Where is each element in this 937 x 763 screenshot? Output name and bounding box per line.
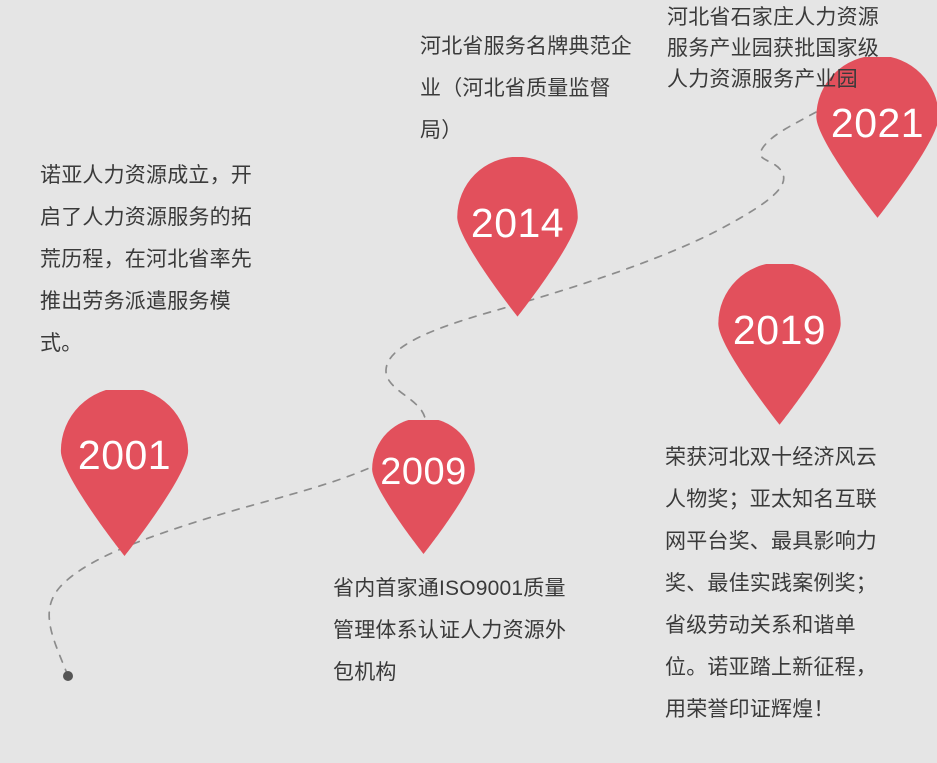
timeline-description-2001: 诺亚人力资源成立，开启了人力资源服务的拓荒历程，在河北省率先推出劳务派遣服务模式… xyxy=(40,155,268,365)
timeline-marker-2014[interactable]: 2014 xyxy=(452,157,583,319)
timeline-year-2009: 2009 xyxy=(364,451,483,494)
timeline-description-2009: 省内首家通ISO9001质量管理体系认证人力资源外包机构 xyxy=(333,568,569,694)
timeline-infographic: 2001 2009 2014 2019 2021 诺亚人力资源成立，开启了人力资… xyxy=(0,0,937,763)
timeline-year-2019: 2019 xyxy=(713,307,846,354)
timeline-year-2014: 2014 xyxy=(452,200,583,247)
timeline-year-2001: 2001 xyxy=(55,432,194,479)
timeline-marker-2019[interactable]: 2019 xyxy=(713,264,846,426)
timeline-description-2014: 河北省服务名牌典范企业（河北省质量监督局） xyxy=(420,26,638,152)
timeline-description-2019: 荣获河北双十经济风云人物奖；亚太知名互联网平台奖、最具影响力奖、最佳实践案例奖；… xyxy=(665,437,890,731)
timeline-description-2021: 河北省石家庄人力资源服务产业园获批国家级人力资源服务产业园 xyxy=(667,2,883,95)
timeline-marker-2009[interactable]: 2009 xyxy=(364,420,483,554)
timeline-year-2021: 2021 xyxy=(811,100,937,147)
timeline-marker-2001[interactable]: 2001 xyxy=(55,390,194,556)
